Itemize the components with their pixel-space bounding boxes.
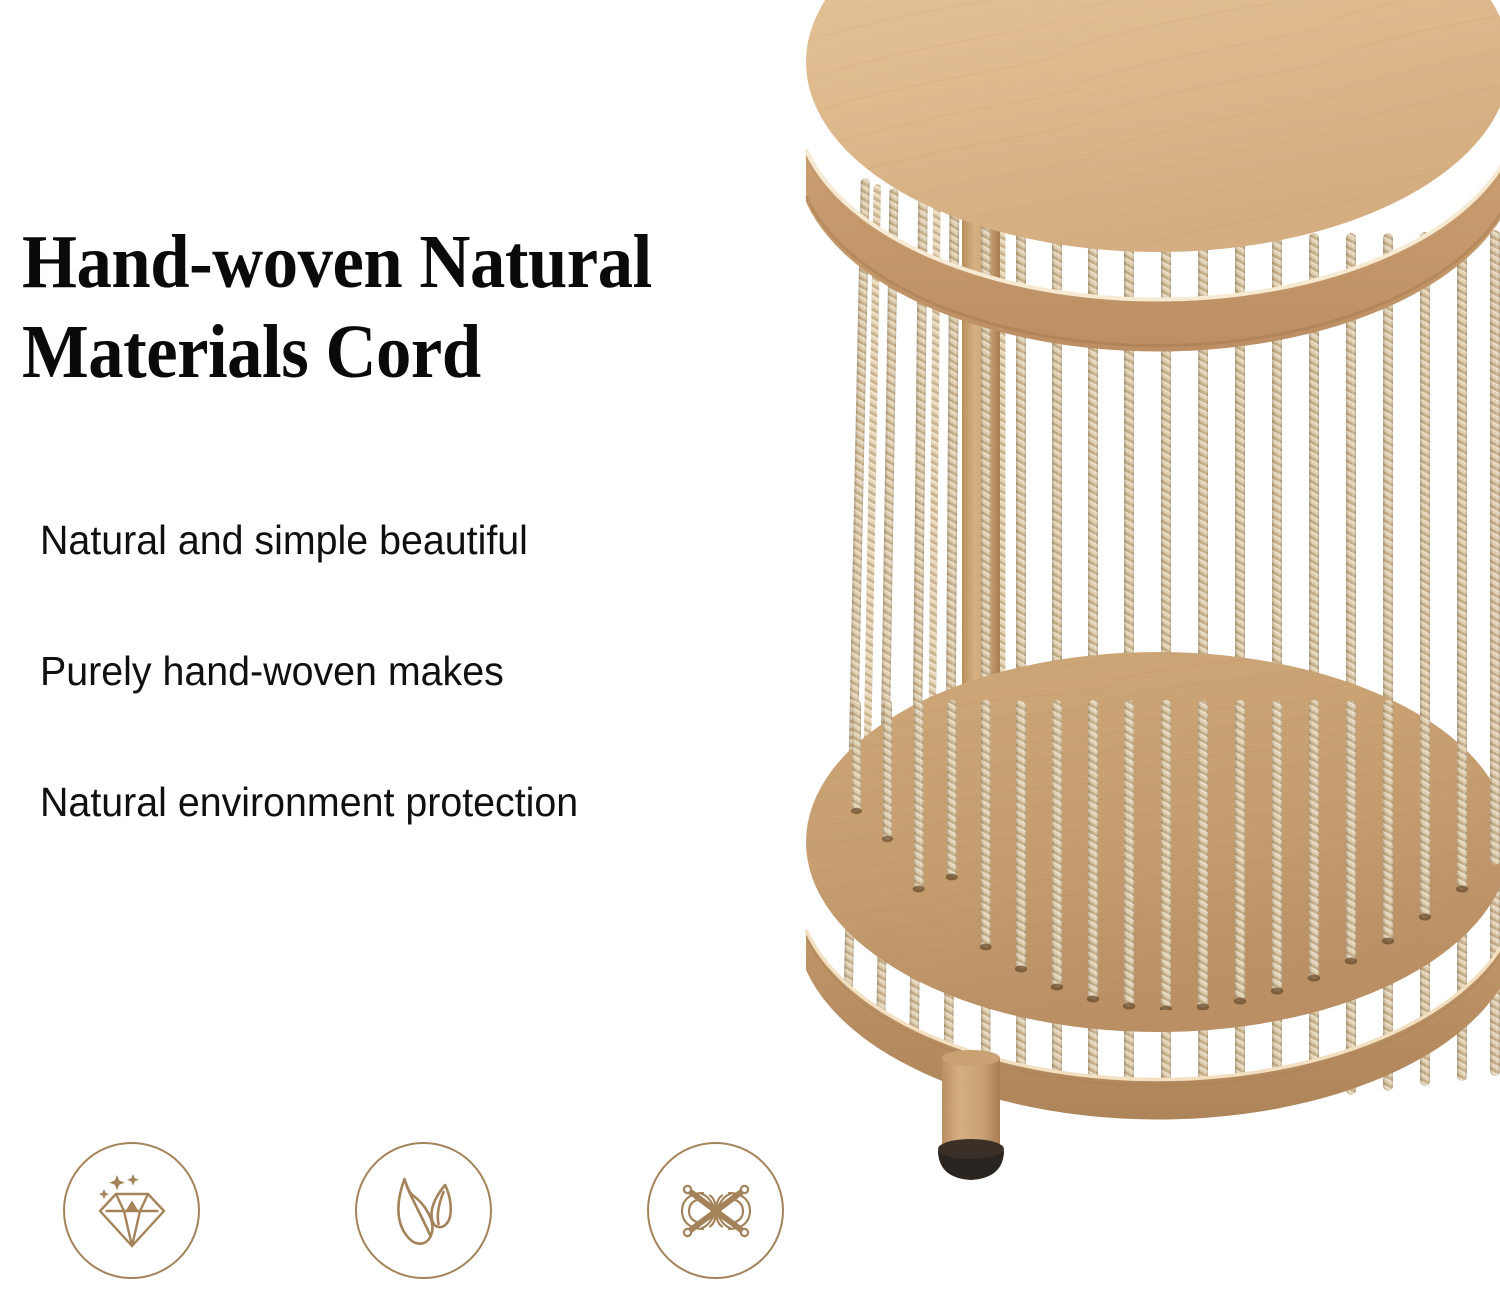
product-feature-page: Hand-woven Natural Materials Cord Natura… xyxy=(0,0,1500,1293)
badge-premium-quality xyxy=(63,1142,200,1279)
woven-knot-icon xyxy=(666,1161,766,1261)
coffee-table-illustration xyxy=(790,0,1500,1293)
badge-eco-friendly xyxy=(355,1142,492,1279)
badge-hand-woven xyxy=(647,1142,784,1279)
badge-row xyxy=(63,1142,784,1279)
page-title: Hand-woven Natural Materials Cord xyxy=(22,218,785,397)
feature-item-1: Natural and simple beautiful xyxy=(40,520,808,561)
table-top xyxy=(806,0,1500,351)
product-photo xyxy=(790,0,1500,1293)
feature-item-3: Natural environment protection xyxy=(40,782,808,823)
lower-shelf xyxy=(806,652,1500,1119)
feature-list: Natural and simple beautiful Purely hand… xyxy=(40,520,840,823)
copy-column: Hand-woven Natural Materials Cord Natura… xyxy=(18,0,818,1293)
feature-item-2: Purely hand-woven makes xyxy=(40,651,808,692)
diamond-sparkle-icon xyxy=(84,1163,180,1259)
two-leaves-icon xyxy=(376,1163,472,1259)
table-foot xyxy=(938,1050,1004,1180)
